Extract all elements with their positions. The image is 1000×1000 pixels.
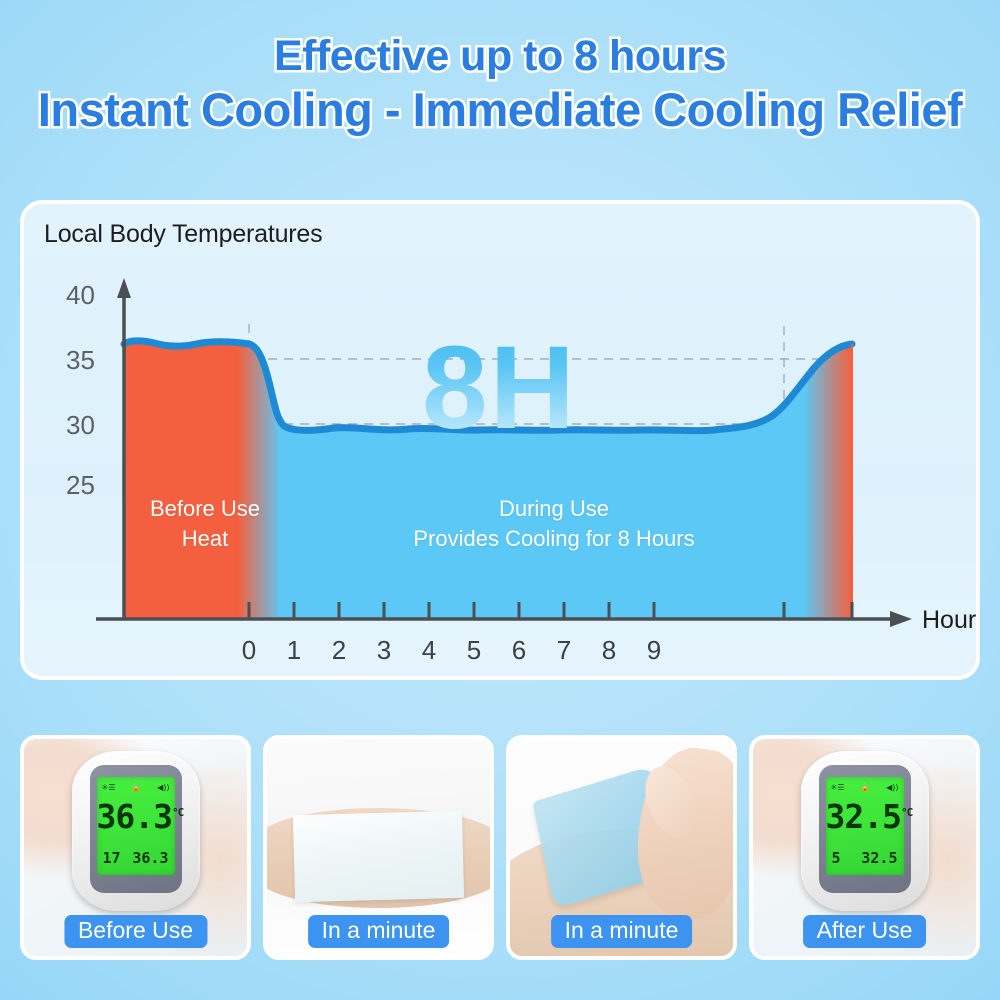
lcd-sub-left-2: 5 bbox=[832, 849, 841, 867]
lcd-temperature-reading: 36.3°C bbox=[97, 797, 175, 836]
cooling-patch-shape bbox=[293, 811, 465, 902]
lcd-sub-row-2: 5 32.5 bbox=[832, 849, 898, 867]
thermometer-device: ✳☰ 🔒 ◀)) 36.3°C 17 36.3 bbox=[72, 751, 200, 911]
body-mode-icon: ✳☰ bbox=[102, 783, 116, 792]
lcd-icon-row-2: ✳☰ 🔒 ◀)) bbox=[831, 782, 899, 793]
headline-line-1: Effective up to 8 hours bbox=[0, 34, 1000, 79]
lcd-sub-right: 36.3 bbox=[132, 849, 168, 867]
x-tick-label-0: 0 bbox=[242, 635, 256, 665]
photo-caption-after-use: After Use bbox=[803, 915, 927, 948]
lcd-reading-value-2: 32.5 bbox=[826, 797, 901, 836]
area-before-use bbox=[124, 341, 282, 619]
x-axis-label: Hours bbox=[922, 606, 976, 634]
photo-caption-in-a-minute-2: In a minute bbox=[551, 915, 693, 948]
thermometer-device-2: ✳☰ 🔒 ◀)) 32.5°C 5 32.5 bbox=[801, 751, 929, 911]
lcd-icon-row: ✳☰ 🔒 ◀)) bbox=[102, 782, 170, 793]
x-tick-label-3: 3 bbox=[377, 635, 391, 665]
y-tick-label-35: 35 bbox=[66, 345, 95, 375]
headline-line-2: Instant Cooling - Immediate Cooling Reli… bbox=[0, 85, 1000, 134]
lcd-sub-left: 17 bbox=[103, 849, 121, 867]
lock-icon-2: 🔒 bbox=[860, 783, 870, 792]
lock-icon: 🔒 bbox=[131, 783, 141, 792]
photo-card-gel-peel[interactable]: In a minute bbox=[506, 735, 737, 960]
lcd-reading-value: 36.3 bbox=[97, 797, 172, 836]
thermometer-lcd-screen-2: ✳☰ 🔒 ◀)) 32.5°C 5 32.5 bbox=[826, 777, 904, 875]
y-tick-label-30: 30 bbox=[66, 410, 95, 440]
x-tick-label-8: 8 bbox=[602, 635, 616, 665]
headline: Effective up to 8 hours Instant Cooling … bbox=[0, 34, 1000, 134]
x-tick-label-4: 4 bbox=[422, 635, 436, 665]
y-tick-label-25: 25 bbox=[66, 470, 95, 500]
x-tick-label-7: 7 bbox=[557, 635, 571, 665]
speaker-icon: ◀)) bbox=[157, 783, 169, 792]
x-tick-label-2: 2 bbox=[332, 635, 346, 665]
speaker-icon-2: ◀)) bbox=[886, 783, 898, 792]
photo-caption-before-use: Before Use bbox=[64, 915, 207, 948]
x-tick-label-9: 9 bbox=[647, 635, 661, 665]
lcd-temperature-reading-2: 32.5°C bbox=[826, 797, 904, 836]
y-tick-label-40: 40 bbox=[66, 280, 95, 310]
thermometer-lcd-screen: ✳☰ 🔒 ◀)) 36.3°C 17 36.3 bbox=[97, 777, 175, 875]
thermometer-bezel-2: ✳☰ 🔒 ◀)) 32.5°C 5 32.5 bbox=[819, 765, 911, 893]
body-mode-icon-2: ✳☰ bbox=[831, 783, 845, 792]
x-tick-label-1: 1 bbox=[287, 635, 301, 665]
lcd-sub-right-2: 32.5 bbox=[861, 849, 897, 867]
temperature-area-chart: 40 35 30 25 0 1 2 3 4 5 6 7 8 9 Hours bbox=[24, 204, 976, 676]
photo-card-patch-on-arm[interactable]: In a minute bbox=[263, 735, 494, 960]
photo-card-before-use[interactable]: ✳☰ 🔒 ◀)) 36.3°C 17 36.3 Before Use bbox=[20, 735, 251, 960]
lcd-unit-2: °C bbox=[901, 806, 912, 819]
thermometer-bezel: ✳☰ 🔒 ◀)) 36.3°C 17 36.3 bbox=[90, 765, 182, 893]
area-during-use bbox=[278, 410, 784, 619]
chart-panel: Local Body Temperatures bbox=[20, 200, 980, 680]
photo-card-after-use[interactable]: ✳☰ 🔒 ◀)) 32.5°C 5 32.5 After Use bbox=[749, 735, 980, 960]
photo-gallery: ✳☰ 🔒 ◀)) 36.3°C 17 36.3 Before Use bbox=[20, 735, 980, 960]
x-tick-label-6: 6 bbox=[512, 635, 526, 665]
lcd-unit: °C bbox=[172, 806, 183, 819]
photo-caption-in-a-minute-1: In a minute bbox=[308, 915, 450, 948]
x-tick-label-5: 5 bbox=[467, 635, 481, 665]
lcd-sub-row: 17 36.3 bbox=[103, 849, 169, 867]
